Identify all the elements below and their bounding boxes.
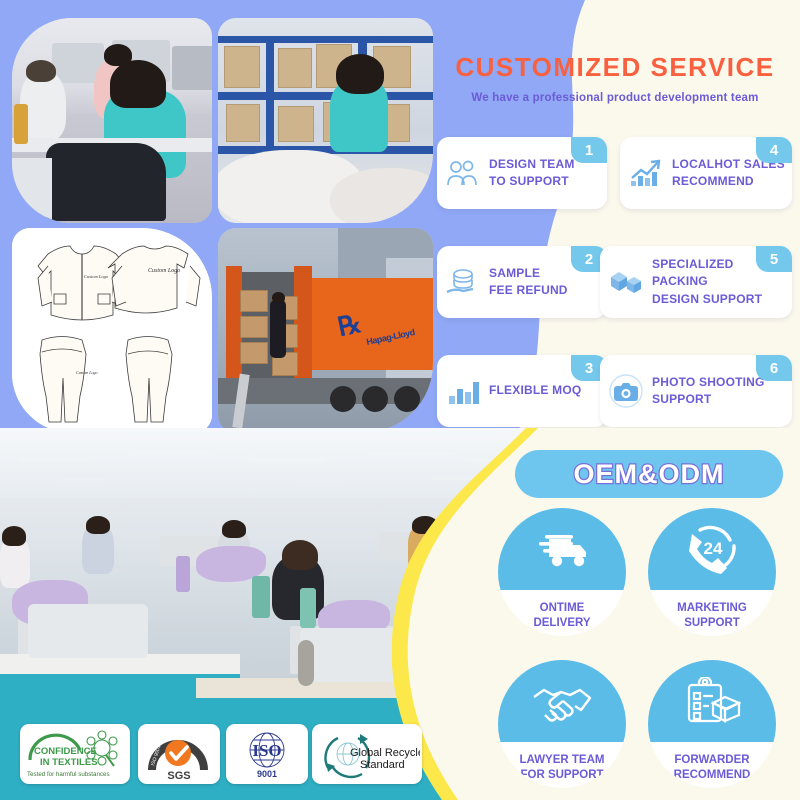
oem-service-ontime-delivery[interactable]: ONTIMEDELIVERY	[498, 508, 626, 636]
infographic-poster: Custom Logo Custom Logo Custom Logo ℞ Ha…	[0, 0, 800, 800]
feature-card-localhot-sales[interactable]: 4 LOCALHOT SALESRECOMMEND	[620, 137, 792, 209]
feature-card-sample-fee[interactable]: 2 SAMPLEFEE REFUND	[437, 246, 607, 318]
feature-label: SAMPLEFEE REFUND	[489, 265, 568, 300]
svg-text:Global Recycled: Global Recycled	[350, 747, 420, 759]
iso-9001-badge: ISO 9001	[226, 724, 308, 784]
boxes-icon	[600, 267, 652, 297]
oem-service-forwarder-recommend[interactable]: FORWARDERRECOMMEND	[648, 660, 776, 788]
oem-odm-heading: OEM&ODM	[515, 450, 783, 498]
delivery-truck-icon	[498, 508, 626, 590]
svg-text:24: 24	[704, 539, 723, 558]
oem-service-marketing-support[interactable]: 24 MARKETINGSUPPORT	[648, 508, 776, 636]
svg-text:CONFIDENCE: CONFIDENCE	[34, 746, 97, 757]
feature-card-design-team[interactable]: 1 DESIGN TEAMTO SUPPORT	[437, 137, 607, 209]
svg-text:Tested for harmful substances: Tested for harmful substances	[27, 771, 110, 778]
handshake-icon	[498, 660, 626, 742]
trend-up-chart-icon	[620, 158, 672, 188]
oem-service-label: ONTIMEDELIVERY	[498, 601, 626, 630]
oem-service-label: FORWARDERRECOMMEND	[648, 753, 776, 782]
svg-text:ISO: ISO	[252, 741, 281, 760]
svg-text:Custom Logo: Custom Logo	[84, 274, 109, 279]
oem-service-label: LAWYER TEAMFOR SUPPORT	[498, 753, 626, 782]
feature-label: FLEXIBLE MOQ	[489, 382, 581, 399]
oem-service-label: MARKETINGSUPPORT	[648, 601, 776, 630]
clipboard-package-icon	[648, 660, 776, 742]
camera-icon	[600, 373, 652, 409]
garment-tech-sketch-panel: Custom Logo Custom Logo Custom Logo	[12, 228, 212, 433]
feature-number-badge: 4	[756, 137, 792, 163]
phone-24h-icon: 24	[648, 508, 776, 590]
feature-label: DESIGN TEAMTO SUPPORT	[489, 156, 575, 191]
feature-number-badge: 5	[756, 246, 792, 272]
sgs-iso-9001-badge: ISO 9001 SGS	[138, 724, 220, 784]
feature-card-photo-shooting[interactable]: 6 PHOTO SHOOTINGSUPPORT	[600, 355, 792, 427]
packing-worker-photo	[218, 18, 433, 223]
page-subtitle: We have a professional product developme…	[440, 92, 790, 104]
container-loading-photo: ℞ Hapag-Lloyd	[218, 228, 433, 433]
sewing-worker-photo	[12, 18, 212, 223]
svg-text:Custom Logo: Custom Logo	[148, 268, 180, 274]
bar-chart-icon	[437, 377, 489, 405]
svg-text:Standard: Standard	[360, 759, 405, 771]
feature-number-badge: 6	[756, 355, 792, 381]
global-recycled-standard-badge: Global Recycled Standard	[312, 724, 422, 784]
feature-label: PHOTO SHOOTINGSUPPORT	[652, 374, 765, 409]
svg-text:SGS: SGS	[167, 770, 190, 782]
svg-text:9001: 9001	[257, 769, 277, 779]
feature-number-badge: 1	[571, 137, 607, 163]
page-title: CUSTOMIZED SERVICE	[440, 52, 790, 83]
oeko-tex-confidence-in-textiles-badge: CONFIDENCE IN TEXTILES Tested for harmfu…	[20, 724, 130, 784]
money-refund-icon	[437, 267, 489, 297]
feature-card-flexible-moq[interactable]: 3 FLEXIBLE MOQ	[437, 355, 607, 427]
svg-text:IN TEXTILES: IN TEXTILES	[40, 757, 98, 768]
feature-card-specialized-packing[interactable]: 5 SPECIALIZED PACKINGDESIGN SUPPORT	[600, 246, 792, 318]
people-group-icon	[437, 158, 489, 188]
svg-text:Custom Logo: Custom Logo	[76, 370, 97, 375]
oem-service-lawyer-team[interactable]: LAWYER TEAMFOR SUPPORT	[498, 660, 626, 788]
